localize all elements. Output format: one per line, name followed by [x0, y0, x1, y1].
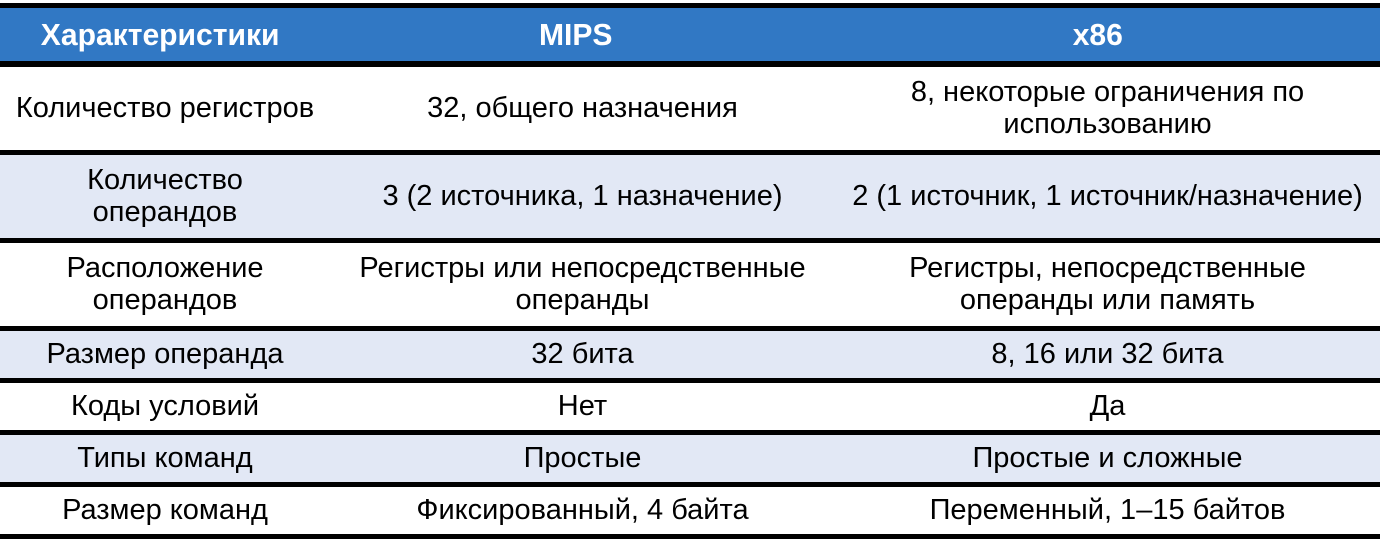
cell-x86: 8, 16 или 32 бита: [835, 328, 1380, 380]
cell-mips: Регистры или непосредственные операнды: [330, 240, 835, 328]
cell-mips: 32, общего назначения: [330, 64, 835, 152]
cell-mips: Фиксированный, 4 байта: [330, 484, 835, 536]
cell-characteristic: Размер команд: [0, 484, 330, 536]
table-row: Количество операндов 3 (2 источника, 1 н…: [0, 152, 1380, 240]
table-row: Типы команд Простые Простые и сложные: [0, 432, 1380, 484]
column-header-mips: MIPS: [338, 6, 828, 65]
table-header: Характеристики MIPS x86: [0, 6, 1380, 65]
table-body: Количество регистров 32, общего назначен…: [0, 64, 1380, 536]
cell-characteristic: Количество регистров: [0, 64, 330, 152]
cell-x86: 2 (1 источник, 1 источник/назначение): [835, 152, 1380, 240]
cell-mips: Простые: [330, 432, 835, 484]
cell-mips: 32 бита: [330, 328, 835, 380]
column-header-x86: x86: [843, 6, 1372, 65]
table-row: Коды условий Нет Да: [0, 380, 1380, 432]
cell-x86: 8, некоторые ограничения по использовани…: [835, 64, 1380, 152]
cell-characteristic: Размер операнда: [0, 328, 330, 380]
cell-characteristic: Количество операндов: [0, 152, 330, 240]
cell-characteristic: Расположение операндов: [0, 240, 330, 328]
table-header-row: Характеристики MIPS x86: [0, 6, 1380, 65]
mips-x86-comparison-table: Характеристики MIPS x86 Количество регис…: [0, 3, 1380, 539]
table-row: Расположение операндов Регистры или непо…: [0, 240, 1380, 328]
comparison-table: Характеристики MIPS x86 Количество регис…: [0, 0, 1380, 554]
cell-x86: Да: [835, 380, 1380, 432]
table-row: Размер команд Фиксированный, 4 байта Пер…: [0, 484, 1380, 536]
column-header-characteristics: Характеристики: [5, 6, 325, 65]
cell-characteristic: Типы команд: [0, 432, 330, 484]
cell-x86: Регистры, непосредственные операнды или …: [835, 240, 1380, 328]
table-row: Размер операнда 32 бита 8, 16 или 32 бит…: [0, 328, 1380, 380]
cell-characteristic: Коды условий: [0, 380, 330, 432]
cell-mips: Нет: [330, 380, 835, 432]
cell-mips: 3 (2 источника, 1 назначение): [330, 152, 835, 240]
table-row: Количество регистров 32, общего назначен…: [0, 64, 1380, 152]
cell-x86: Переменный, 1–15 байтов: [835, 484, 1380, 536]
cell-x86: Простые и сложные: [835, 432, 1380, 484]
